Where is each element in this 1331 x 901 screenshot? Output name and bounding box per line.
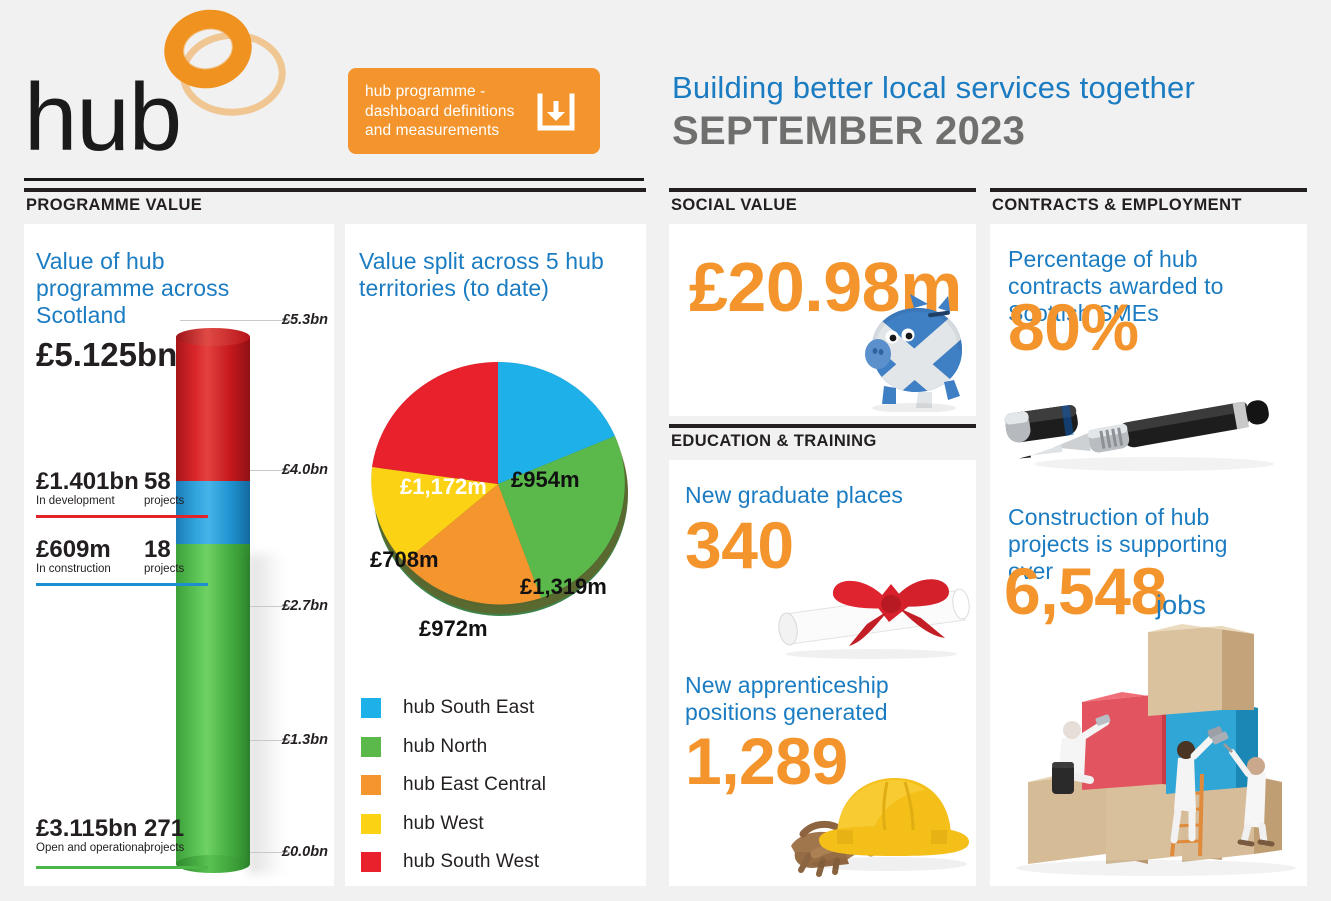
stat-count-number: 18 — [144, 537, 204, 562]
programme-total-value: £5.125bn — [36, 338, 177, 372]
pie-label-east-central: £972m — [419, 616, 488, 642]
stat-count-number: 58 — [144, 469, 204, 494]
download-icon — [534, 90, 578, 134]
legend-label: hub South West — [403, 851, 539, 873]
legend-label: hub East Central — [403, 774, 546, 796]
stat-project-count: 271 projects — [144, 816, 204, 855]
hub-logo-wordmark: hub — [24, 70, 181, 166]
section-rule — [669, 424, 976, 428]
sme-contracts-value: 80% — [1008, 294, 1139, 360]
tagline: Building better local services together — [672, 70, 1312, 106]
page-header: hub hub programme - dashboard definition… — [0, 0, 1331, 185]
header-divider — [24, 178, 644, 181]
jobs-supported-value: 6,548 — [1004, 558, 1167, 624]
stat-underline — [36, 583, 208, 586]
panel-social-value: £20.98m — [669, 224, 976, 416]
legend-swatch-icon — [361, 852, 381, 872]
legend-item-west[interactable]: hub West — [361, 805, 621, 844]
dashboard-definitions-label: hub programme - dashboard definitions an… — [365, 82, 525, 141]
legend-item-south-west[interactable]: hub South West — [361, 843, 621, 882]
legend-swatch-icon — [361, 814, 381, 834]
section-header-social-value: SOCIAL VALUE — [669, 188, 976, 222]
axis-tick-label: £4.0bn — [282, 462, 328, 478]
legend-label: hub North — [403, 736, 487, 758]
axis-tick-label: £1.3bn — [282, 732, 328, 748]
block-top — [1148, 624, 1254, 716]
section-header-contracts-employment: CONTRACTS & EMPLOYMENT — [990, 188, 1307, 222]
legend-label: hub West — [403, 813, 484, 835]
stat-count-unit: projects — [144, 842, 204, 855]
stat-count-unit: projects — [144, 563, 204, 576]
legend-item-north[interactable]: hub North — [361, 728, 621, 767]
hard-hat-and-gloves-image — [779, 760, 975, 886]
bar-bottom-cap — [176, 855, 250, 873]
section-title: PROGRAMME VALUE — [26, 196, 202, 215]
stat-in-construction: £609m In construction 18 projects — [36, 537, 184, 576]
section-rule — [669, 188, 976, 192]
section-title: EDUCATION & TRAINING — [671, 432, 877, 451]
wooden-blocks-painters-image — [996, 624, 1306, 882]
stat-in-development: £1.401bn In development 58 projects — [36, 469, 184, 508]
pie-legend: hub South East hub North hub East Centra… — [361, 689, 621, 882]
section-rule — [990, 188, 1307, 192]
legend-swatch-icon — [361, 698, 381, 718]
panel-education-training: New graduate places 340 New apprenticesh… — [669, 460, 976, 886]
pie-slice-south-west — [372, 362, 498, 484]
section-title: SOCIAL VALUE — [671, 196, 797, 215]
fountain-pen-image — [1004, 384, 1300, 476]
stat-underline — [36, 515, 208, 518]
diploma-scroll-image — [771, 546, 976, 661]
section-rule — [24, 188, 646, 192]
legend-swatch-icon — [361, 775, 381, 795]
page-title: Building better local services together … — [672, 70, 1312, 154]
section-header-programme-value: PROGRAMME VALUE — [24, 188, 646, 222]
dashboard-page: hub hub programme - dashboard definition… — [0, 0, 1331, 901]
graduate-places-label: New graduate places — [685, 482, 945, 509]
stat-count-unit: projects — [144, 495, 204, 508]
stat-count-number: 271 — [144, 816, 204, 841]
bar-segment-in-development — [176, 337, 250, 481]
pie-label-south-west: £1,172m — [400, 474, 487, 500]
stat-open-operational: £3.115bn Open and operational 271 projec… — [36, 816, 184, 855]
pie-label-south-east: £954m — [511, 467, 580, 493]
legend-label: hub South East — [403, 697, 534, 719]
dashboard-definitions-button[interactable]: hub programme - dashboard definitions an… — [348, 68, 600, 154]
pie-card-title: Value split across 5 hub territories (to… — [359, 248, 609, 302]
apprenticeship-label: New apprenticeship positions generated — [685, 672, 915, 726]
pie-label-west: £708m — [370, 547, 439, 573]
legend-swatch-icon — [361, 737, 381, 757]
section-title: CONTRACTS & EMPLOYMENT — [992, 196, 1242, 215]
axis-tick-label: £0.0bn — [282, 844, 328, 860]
panel-programme-value-bar: Value of hub programme across Scotland £… — [24, 224, 334, 886]
report-period: SEPTEMBER 2023 — [672, 108, 1312, 154]
axis-tick-label: £5.3bn — [282, 312, 328, 328]
pie-label-north: £1,319m — [520, 574, 607, 600]
hub-logo: hub — [24, 8, 304, 173]
section-header-education-training: EDUCATION & TRAINING — [669, 424, 976, 458]
stat-underline — [36, 866, 208, 869]
jobs-supported-unit: jobs — [1156, 592, 1206, 619]
stat-project-count: 18 projects — [144, 537, 204, 576]
axis-tick-line — [180, 320, 292, 321]
legend-item-south-east[interactable]: hub South East — [361, 689, 621, 728]
bar-shadow — [248, 554, 284, 874]
legend-item-east-central[interactable]: hub East Central — [361, 766, 621, 805]
bar-top-cap — [176, 328, 250, 346]
scottish-piggy-bank-image — [844, 282, 972, 412]
stat-project-count: 58 projects — [144, 469, 204, 508]
axis-tick-label: £2.7bn — [282, 598, 328, 614]
panel-value-split-pie: Value split across 5 hub territories (to… — [345, 224, 646, 886]
panel-contracts-employment: Percentage of hub contracts awarded to S… — [990, 224, 1307, 886]
